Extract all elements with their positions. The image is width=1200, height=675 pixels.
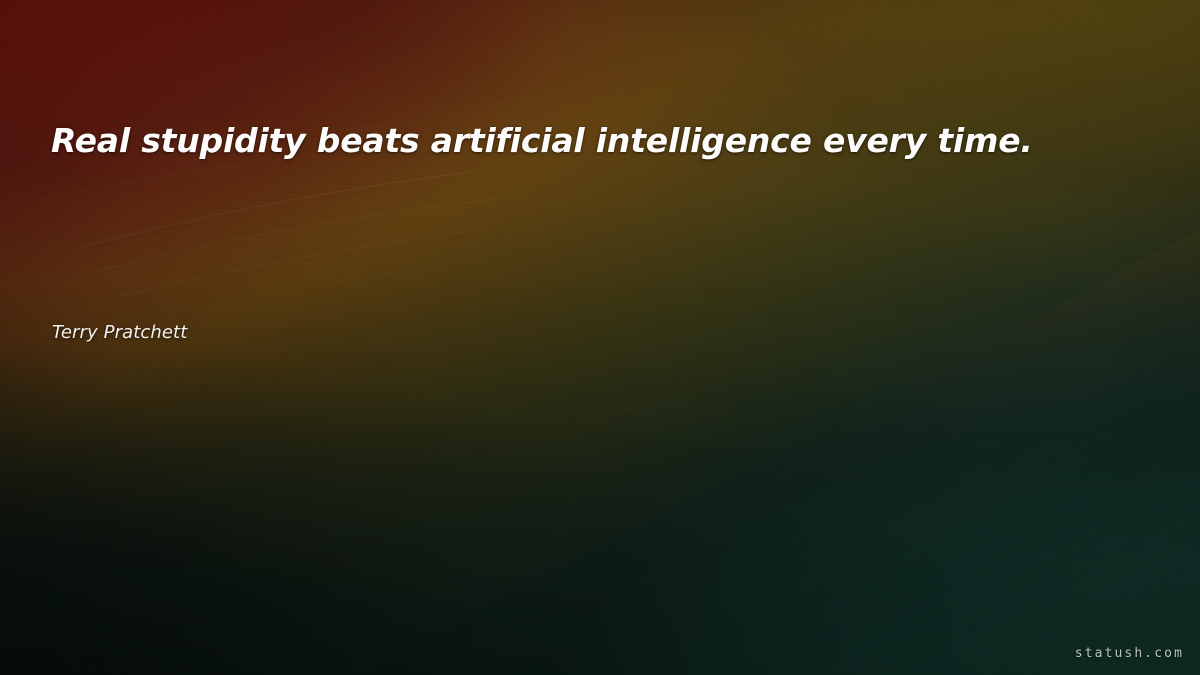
site-watermark: statush.com	[1075, 646, 1184, 662]
quote-card: Real stupidity beats artificial intellig…	[0, 0, 1200, 675]
quote-content: Real stupidity beats artificial intellig…	[0, 0, 1200, 675]
quote-text: Real stupidity beats artificial intellig…	[51, 120, 1131, 162]
quote-author: Terry Pratchett	[52, 321, 187, 345]
